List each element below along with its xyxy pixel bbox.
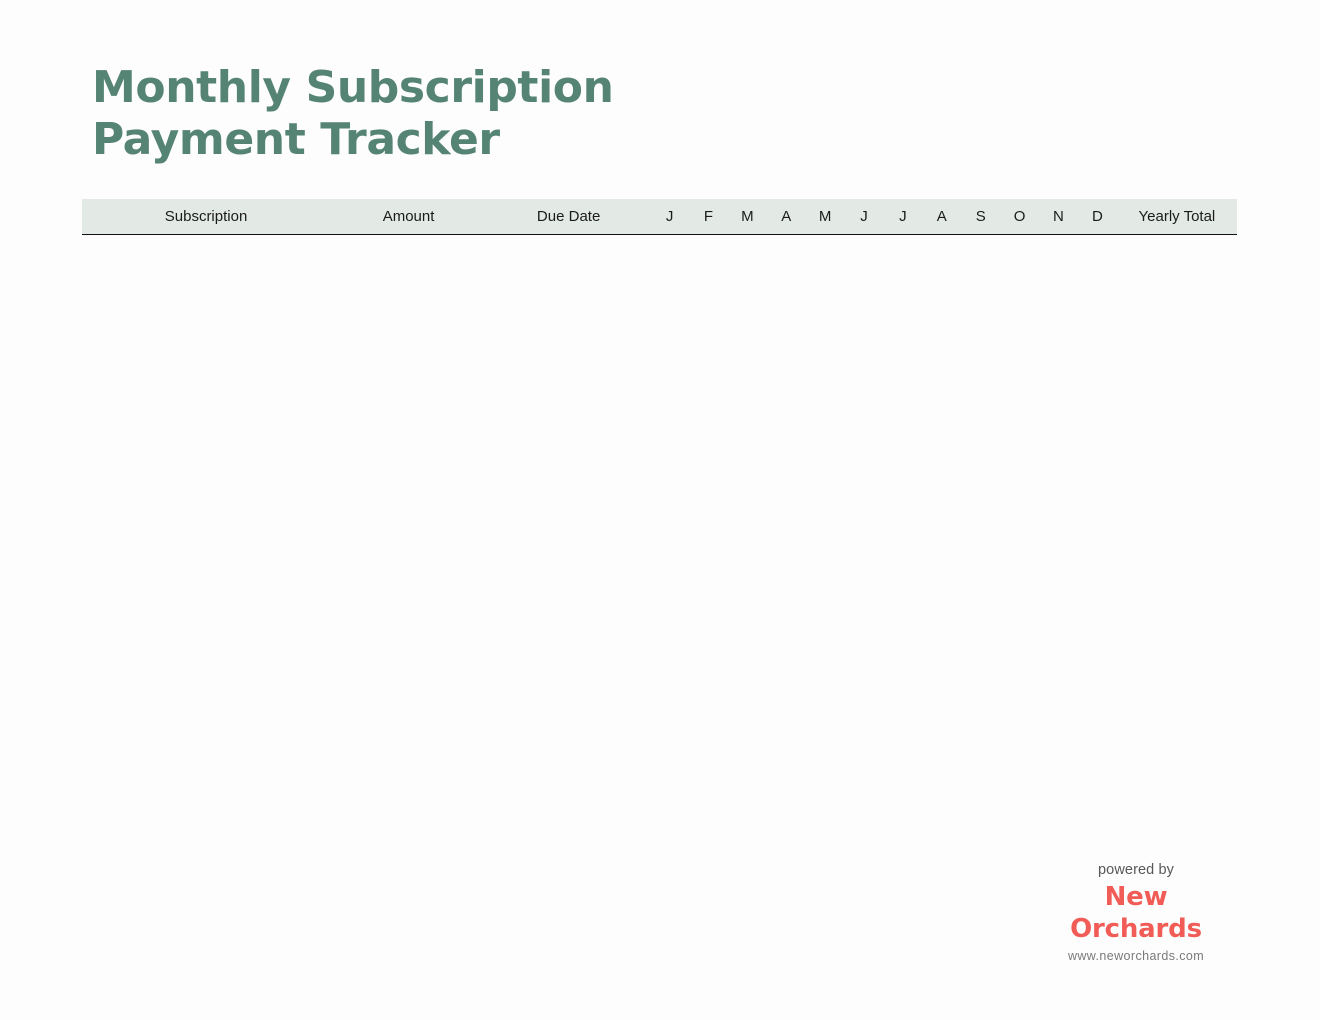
brand-footer: powered by New Orchards www.neworchards.… xyxy=(1036,860,1236,965)
column-header-month-1: J xyxy=(650,199,689,235)
page-title: Monthly Subscription Payment Tracker xyxy=(92,62,892,166)
column-header-month-7: J xyxy=(883,199,922,235)
page-title-line-1: Monthly Subscription xyxy=(92,62,892,114)
brand-url: www.neworchards.com xyxy=(1036,947,1236,965)
column-header-month-6: J xyxy=(845,199,884,235)
subscription-tracker-page: Monthly Subscription Payment Tracker Sub… xyxy=(0,0,1320,1020)
tracker-header-row: SubscriptionAmountDue DateJFMAMJJASONDYe… xyxy=(82,199,1237,235)
column-header-amount: Amount xyxy=(330,199,487,235)
column-header-yearly-total: Yearly Total xyxy=(1117,199,1237,235)
page-title-line-2: Payment Tracker xyxy=(92,114,892,166)
column-header-month-2: F xyxy=(689,199,728,235)
column-header-month-11: N xyxy=(1039,199,1078,235)
tracker-table-wrapper: SubscriptionAmountDue DateJFMAMJJASONDYe… xyxy=(82,199,1237,235)
column-header-subscription: Subscription xyxy=(82,199,330,235)
column-header-month-8: A xyxy=(922,199,961,235)
column-header-due_date: Due Date xyxy=(487,199,650,235)
column-header-month-12: D xyxy=(1078,199,1117,235)
powered-by-label: powered by xyxy=(1036,860,1236,880)
column-header-month-9: S xyxy=(961,199,1000,235)
column-header-month-3: M xyxy=(728,199,767,235)
column-header-month-5: M xyxy=(806,199,845,235)
tracker-table: SubscriptionAmountDue DateJFMAMJJASONDYe… xyxy=(82,199,1237,235)
column-header-month-10: O xyxy=(1000,199,1039,235)
column-header-month-4: A xyxy=(767,199,806,235)
brand-name-logo: New Orchards xyxy=(1036,881,1236,945)
tracker-table-head: SubscriptionAmountDue DateJFMAMJJASONDYe… xyxy=(82,199,1237,235)
